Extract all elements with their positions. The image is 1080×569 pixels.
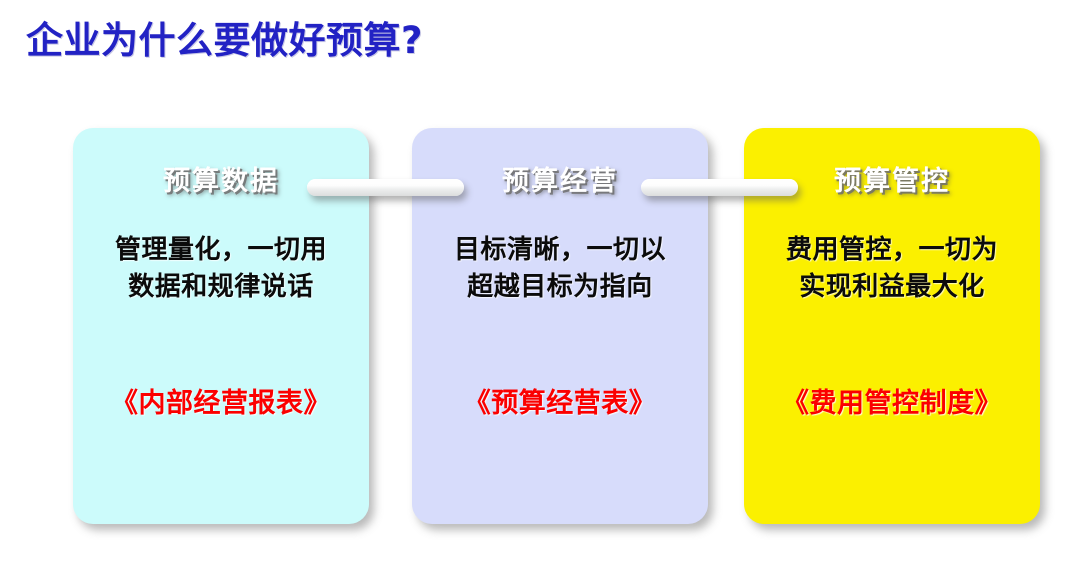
card-document-budget-operation: 《预算经营表》 [422, 381, 698, 420]
card-body-budget-data: 管理量化，一切用 数据和规律说话 [87, 232, 355, 306]
card-row: 预算数据 管理量化，一切用 数据和规律说话 《内部经营报表》 预算经营 目标清晰… [0, 0, 1080, 569]
slide: 企业为什么要做好预算? 预算数据 管理量化，一切用 数据和规律说话 《内部经营报… [0, 0, 1080, 569]
card-body-line2: 超越目标为指向 [426, 269, 694, 306]
connector-data-to-operation-icon [307, 179, 464, 196]
card-body-line2: 实现利益最大化 [758, 269, 1026, 306]
card-body-line2: 数据和规律说话 [87, 269, 355, 306]
card-document-budget-control: 《费用管控制度》 [754, 381, 1030, 420]
card-body-line1: 费用管控，一切为 [758, 232, 1026, 269]
card-body-budget-control: 费用管控，一切为 实现利益最大化 [758, 232, 1026, 306]
card-body-line1: 管理量化，一切用 [87, 232, 355, 269]
connector-operation-to-control-icon [641, 179, 798, 196]
card-document-budget-data: 《内部经营报表》 [83, 381, 359, 420]
card-body-line1: 目标清晰，一切以 [426, 232, 694, 269]
card-body-budget-operation: 目标清晰，一切以 超越目标为指向 [426, 232, 694, 306]
